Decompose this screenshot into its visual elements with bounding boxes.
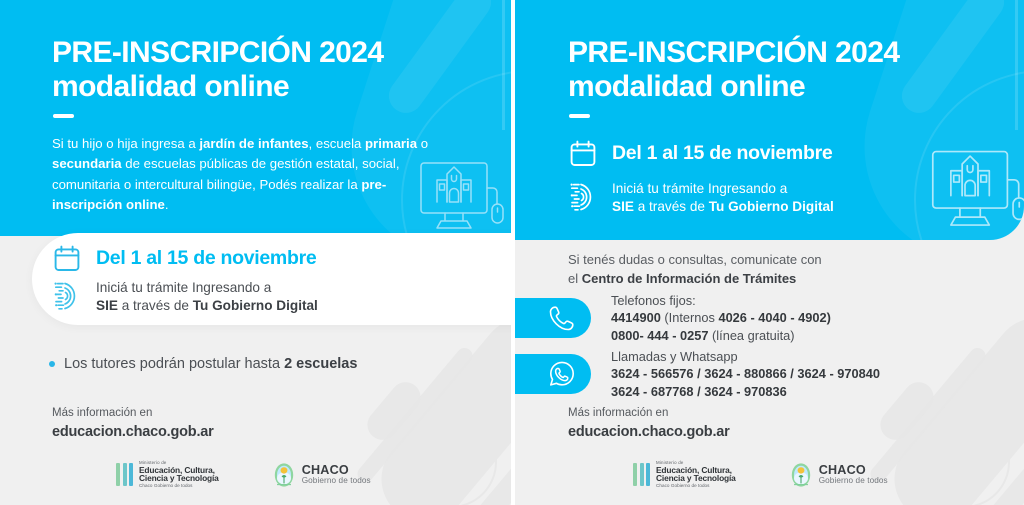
- bullet-text-plain: Los tutores podrán postular hasta: [64, 356, 284, 372]
- decorative-circle: [918, 416, 1010, 505]
- decorative-bar: [382, 0, 498, 120]
- title-line-2: modalidad online: [568, 70, 899, 104]
- right-hero: PRE-INSCRIPCIÓN 2024 modalidad online De…: [515, 0, 1024, 240]
- more-info-url[interactable]: educacion.chaco.gob.ar: [568, 422, 730, 443]
- ministry-sub: Chaco Gobierno de todos: [656, 484, 736, 489]
- left-hero-body: Si tu hijo o hija ingresa a jardín de in…: [52, 134, 444, 216]
- left-bullet-row: Los tutores podrán postular hasta 2 escu…: [49, 356, 357, 372]
- sie-acronym: SIE: [612, 199, 634, 214]
- sie-portal: Tu Gobierno Digital: [709, 199, 834, 214]
- poster-stage: PRE-INSCRIPCIÓN 2024 modalidad online Si…: [0, 0, 1024, 505]
- decorative-bar: [874, 376, 939, 446]
- sie-portal: Tu Gobierno Digital: [193, 298, 318, 313]
- right-panel: PRE-INSCRIPCIÓN 2024 modalidad online De…: [515, 0, 1024, 505]
- right-sie-row: Iniciá tu trámite Ingresando a SIE a tra…: [570, 180, 834, 216]
- whatsapp-icon: [547, 359, 577, 389]
- left-footer-logos: Ministerio de Educación, Cultura, Cienci…: [116, 461, 371, 489]
- phone-contact-text: Telefonos fijos: 4414900 (Internos 4026 …: [611, 292, 831, 344]
- ministry-sub: Chaco Gobierno de todos: [139, 484, 219, 489]
- contact-center-name: Centro de Información de Trámites: [582, 271, 797, 286]
- left-bullet-text: Los tutores podrán postular hasta 2 escu…: [64, 356, 357, 372]
- left-more-info: Más información en educacion.chaco.gob.a…: [52, 405, 214, 443]
- ministry-logo-text: Ministerio de Educación, Cultura, Cienci…: [656, 461, 736, 489]
- decorative-bar: [966, 422, 1024, 505]
- title-line-1: PRE-INSCRIPCIÓN 2024: [568, 36, 899, 69]
- phone-toll-free-note: (línea gratuita): [708, 328, 794, 343]
- phone-icon: [547, 303, 577, 333]
- right-sie-text: Iniciá tu trámite Ingresando a SIE a tra…: [612, 180, 834, 216]
- ministry-logo-text: Ministerio de Educación, Cultura, Cienci…: [139, 461, 219, 489]
- left-date-text: Del 1 al 15 de noviembre: [96, 247, 316, 270]
- chaco-name: CHACO: [819, 464, 888, 477]
- chaco-shield-icon: [273, 462, 295, 488]
- contact-intro-line-2-pre: el: [568, 271, 582, 286]
- more-info-label: Más información en: [568, 407, 668, 419]
- decorative-line: [502, 0, 505, 130]
- decorative-bar: [361, 376, 426, 446]
- contact-intro-line-1: Si tenés dudas o consultas, comunicate c…: [568, 252, 822, 267]
- calendar-icon: [54, 245, 80, 272]
- whatsapp-pill: [515, 354, 591, 394]
- sie-line-1: Iniciá tu trámite Ingresando a: [612, 181, 787, 196]
- decorative-circle: [405, 416, 497, 505]
- decorative-bar: [354, 345, 476, 486]
- calendar-icon: [570, 140, 596, 167]
- right-footer-logos: Ministerio de Educación, Cultura, Cienci…: [633, 461, 888, 489]
- left-sie-text: Iniciá tu trámite Ingresando a SIE a tra…: [96, 279, 318, 315]
- whatsapp-numbers-2: 3624 - 687768 / 3624 - 970836: [611, 384, 787, 399]
- decorative-bar: [877, 300, 1024, 505]
- date-row: Del 1 al 15 de noviembre: [54, 245, 316, 272]
- title-line-1: PRE-INSCRIPCIÓN 2024: [52, 36, 383, 69]
- chaco-logo: CHACO Gobierno de todos: [273, 462, 371, 488]
- ministry-name-2: Ciencia y Tecnología: [139, 474, 219, 483]
- phone-main-number: 4414900: [611, 310, 661, 325]
- contact-intro: Si tenés dudas o consultas, comunicate c…: [568, 250, 822, 288]
- decorative-bar: [453, 422, 511, 505]
- decorative-bar: [895, 0, 1011, 120]
- chaco-logo-text: CHACO Gobierno de todos: [302, 464, 371, 486]
- school-computer-icon: [415, 158, 507, 236]
- phone-internos: 4026 - 4040 - 4902): [718, 310, 830, 325]
- decorative-line: [1015, 0, 1018, 130]
- title-line-2: modalidad online: [52, 70, 383, 104]
- left-info-card: Del 1 al 15 de noviembre I: [32, 233, 511, 325]
- chaco-logo: CHACO Gobierno de todos: [790, 462, 888, 488]
- sie-acronym: SIE: [96, 298, 118, 313]
- whatsapp-numbers-1: 3624 - 566576 / 3624 - 880866 / 3624 - 9…: [611, 366, 880, 381]
- left-panel: PRE-INSCRIPCIÓN 2024 modalidad online Si…: [0, 0, 511, 505]
- chaco-name: CHACO: [302, 464, 371, 477]
- more-info-url[interactable]: educacion.chaco.gob.ar: [52, 422, 214, 443]
- contact-row-whatsapp: Llamadas y Whatsapp 3624 - 566576 / 3624…: [515, 348, 880, 400]
- bullet-dot-icon: [49, 361, 55, 367]
- right-more-info: Más información en educacion.chaco.gob.a…: [568, 405, 730, 443]
- three-bars-icon: [633, 463, 650, 486]
- contact-row-phone: Telefonos fijos: 4414900 (Internos 4026 …: [515, 292, 831, 344]
- sie-mid: a través de: [118, 298, 193, 313]
- title-rule: [569, 114, 590, 118]
- three-bars-icon: [116, 463, 133, 486]
- chaco-logo-text: CHACO Gobierno de todos: [819, 464, 888, 486]
- chaco-shield-icon: [790, 462, 812, 488]
- sie-mid: a través de: [634, 199, 709, 214]
- school-computer-icon: [926, 145, 1024, 235]
- sie-line-1: Iniciá tu trámite Ingresando a: [96, 280, 271, 295]
- sie-row: Iniciá tu trámite Ingresando a SIE a tra…: [54, 279, 318, 315]
- digital-fingerprint-icon: [54, 279, 84, 313]
- chaco-sub: Gobierno de todos: [819, 477, 888, 486]
- title-rule: [53, 114, 74, 118]
- left-page-title: PRE-INSCRIPCIÓN 2024 modalidad online: [52, 36, 383, 103]
- chaco-sub: Gobierno de todos: [302, 477, 371, 486]
- phone-internos-label: (Internos: [661, 310, 719, 325]
- right-date-text: Del 1 al 15 de noviembre: [612, 142, 832, 165]
- phone-pill: [515, 298, 591, 338]
- ministry-name-2: Ciencia y Tecnología: [656, 474, 736, 483]
- whatsapp-contact-text: Llamadas y Whatsapp 3624 - 566576 / 3624…: [611, 348, 880, 400]
- left-hero: PRE-INSCRIPCIÓN 2024 modalidad online Si…: [0, 0, 511, 236]
- more-info-label: Más información en: [52, 407, 152, 419]
- decorative-bar: [364, 300, 511, 505]
- phone-label: Telefonos fijos:: [611, 293, 696, 308]
- right-date-row: Del 1 al 15 de noviembre: [570, 140, 832, 167]
- bullet-text-bold: 2 escuelas: [284, 356, 357, 372]
- whatsapp-label: Llamadas y Whatsapp: [611, 349, 738, 364]
- ministry-logo: Ministerio de Educación, Cultura, Cienci…: [633, 461, 736, 489]
- right-page-title: PRE-INSCRIPCIÓN 2024 modalidad online: [568, 36, 899, 103]
- phone-toll-free: 0800- 444 - 0257: [611, 328, 708, 343]
- digital-fingerprint-icon: [570, 180, 600, 214]
- ministry-logo: Ministerio de Educación, Cultura, Cienci…: [116, 461, 219, 489]
